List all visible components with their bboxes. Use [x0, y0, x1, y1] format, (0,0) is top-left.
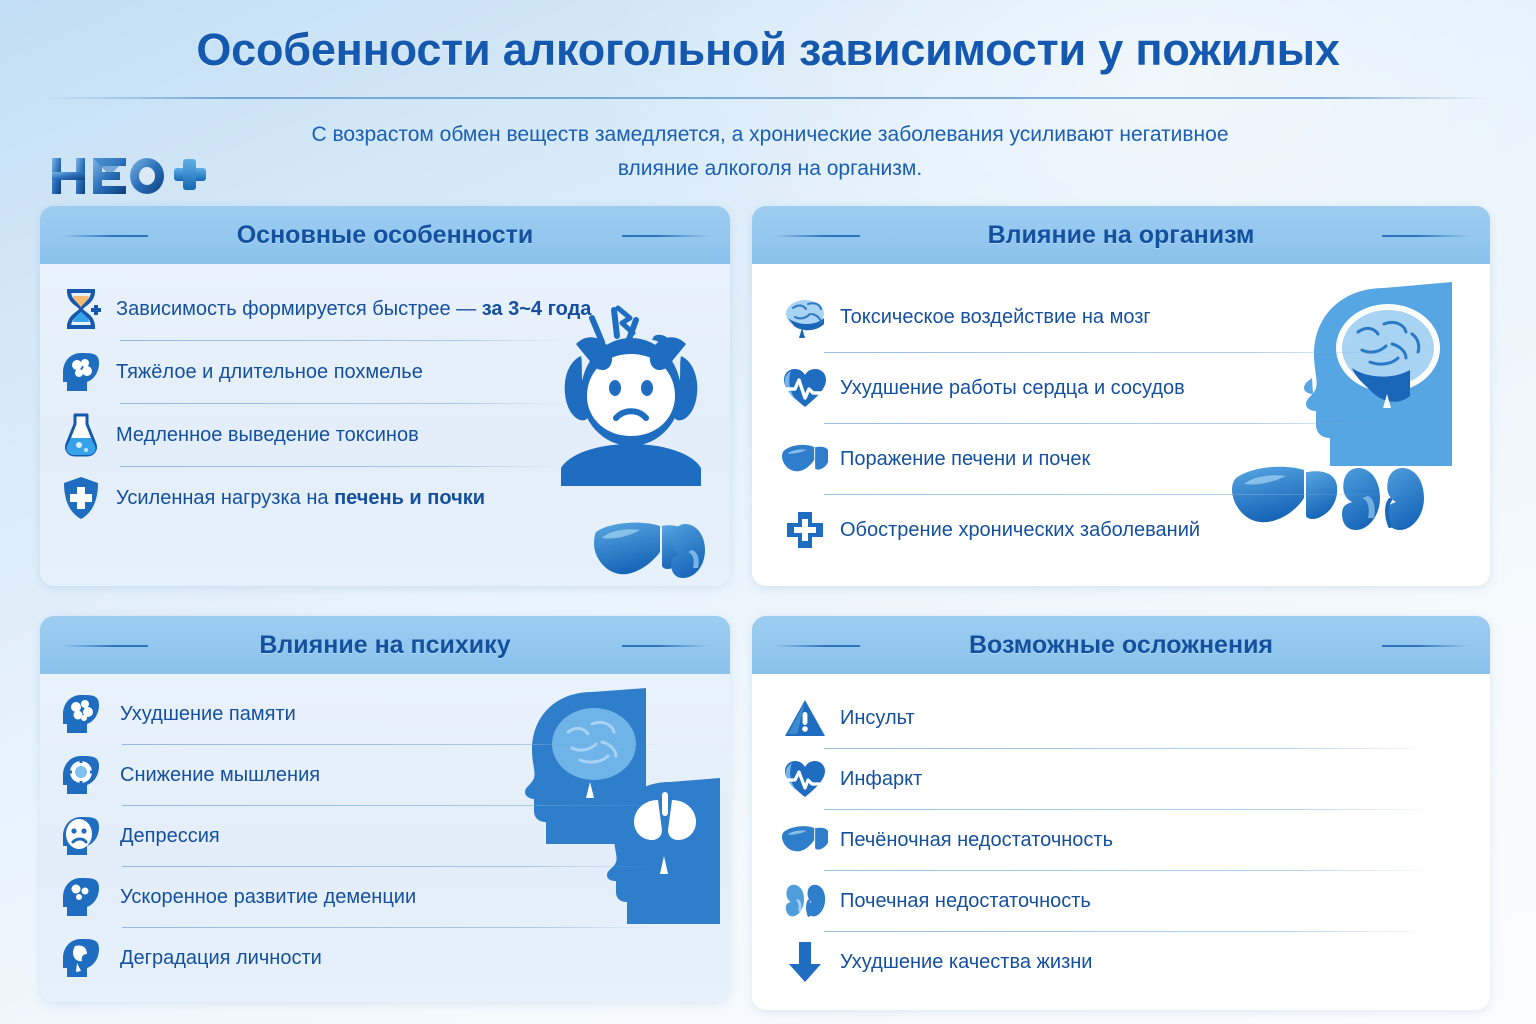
- header-rule-right: [622, 645, 708, 647]
- warning-triangle-icon: [782, 695, 828, 741]
- card-basics-header: Основные особенности: [40, 206, 730, 264]
- list-item-label: Снижение мышления: [120, 763, 320, 787]
- hourglass-icon: [58, 286, 104, 332]
- list-item-label: Инсульт: [840, 706, 915, 730]
- list-item[interactable]: Зависимость формируется быстрее — за 3~4…: [58, 278, 704, 340]
- list-item[interactable]: Деградация личности: [58, 928, 704, 988]
- list-item-label: Обострение хронических заболеваний: [840, 518, 1200, 542]
- head-sad-face-icon: [58, 813, 104, 859]
- list-item-label: Почечная недостаточность: [840, 889, 1091, 913]
- list-item-label: Депрессия: [120, 824, 220, 848]
- list-item[interactable]: Медленное выведение токсинов: [58, 404, 704, 466]
- liver-icon: [782, 817, 828, 863]
- cross-medical-icon: [782, 507, 828, 553]
- list-item-label: Деградация личности: [120, 946, 322, 970]
- list-item[interactable]: Почечная недостаточность: [782, 871, 1464, 931]
- list-item[interactable]: Снижение мышления: [58, 745, 704, 805]
- list-item-label: Ускоренное развитие деменции: [120, 885, 416, 909]
- header-rule-right: [1382, 235, 1468, 237]
- header-rule-left: [62, 645, 148, 647]
- list-item-label: Тяжёлое и длительное похмелье: [116, 360, 423, 384]
- list-item[interactable]: Депрессия: [58, 806, 704, 866]
- list-item[interactable]: Ухудшение памяти: [58, 684, 704, 744]
- card-complications-header: Возможные осложнения: [752, 616, 1490, 674]
- shield-cross-icon: [58, 475, 104, 521]
- list-item[interactable]: Инфаркт: [782, 749, 1464, 809]
- logo-letter-n: [52, 158, 85, 194]
- flask-icon: [58, 412, 104, 458]
- list-item[interactable]: Поражение печени и почек: [782, 424, 1464, 494]
- card-basics-rows: Зависимость формируется быстрее — за 3~4…: [40, 264, 730, 529]
- list-item[interactable]: Обострение хронических заболеваний: [782, 495, 1464, 565]
- list-item-label: Усиленная нагрузка на печень и почки: [116, 486, 485, 510]
- list-item[interactable]: Усиленная нагрузка на печень и почки: [58, 467, 704, 529]
- heart-pulse-icon: [782, 365, 828, 411]
- logo-letter-e: [93, 158, 126, 194]
- liver-icon: [782, 436, 828, 482]
- page-subtitle: С возрастом обмен веществ замедляется, а…: [300, 118, 1240, 186]
- header-rule-left: [774, 645, 860, 647]
- list-item-label: Поражение печени и почек: [840, 447, 1090, 471]
- header-rule-right: [622, 235, 708, 237]
- header-rule-right: [1382, 645, 1468, 647]
- list-item-label: Токсическое воздействие на мозг: [840, 305, 1151, 329]
- head-memory-icon: [58, 691, 104, 737]
- heart-pulse-icon: [782, 756, 828, 802]
- list-item[interactable]: Тяжёлое и длительное похмелье: [58, 341, 704, 403]
- list-item[interactable]: Ухудшение работы сердца и сосудов: [782, 353, 1464, 423]
- card-body-impact-header: Влияние на организм: [752, 206, 1490, 264]
- card-body-impact-title: Влияние на организм: [970, 221, 1273, 250]
- card-psyche-title: Влияние на психику: [241, 631, 528, 660]
- header-rule-left: [62, 235, 148, 237]
- card-complications: Возможные осложнения Инсульт: [752, 616, 1490, 1010]
- card-body-impact: Влияние на организм: [752, 206, 1490, 586]
- kidneys-icon: [782, 878, 828, 924]
- logo-letter-o: [130, 158, 164, 194]
- list-item-label: Печёночная недостаточность: [840, 828, 1113, 852]
- card-psyche-header: Влияние на психику: [40, 616, 730, 674]
- card-psyche: Влияние на психику: [40, 616, 730, 1002]
- head-gear-icon: [58, 752, 104, 798]
- page-title: Особенности алкогольной зависимости у по…: [0, 24, 1536, 76]
- list-item[interactable]: Токсическое воздействие на мозг: [782, 282, 1464, 352]
- card-basics: Основные особенности: [40, 206, 730, 586]
- head-dementia-icon: [58, 874, 104, 920]
- head-hangover-icon: [58, 349, 104, 395]
- head-degradation-icon: [58, 935, 104, 981]
- down-arrow-icon: [782, 939, 828, 985]
- list-item[interactable]: Ухудшение качества жизни: [782, 932, 1464, 992]
- brand-logo: [48, 150, 208, 202]
- list-item-label: Инфаркт: [840, 767, 922, 791]
- list-item-label: Ухудшение работы сердца и сосудов: [840, 376, 1185, 400]
- title-divider: [45, 97, 1491, 99]
- list-item-label: Ухудшение памяти: [120, 702, 296, 726]
- header-rule-left: [774, 235, 860, 237]
- logo-plus-icon: [174, 159, 206, 190]
- list-item[interactable]: Печёночная недостаточность: [782, 810, 1464, 870]
- card-complications-rows: Инсульт Инфаркт: [752, 674, 1490, 992]
- list-item-label: Медленное выведение токсинов: [116, 423, 419, 447]
- list-item[interactable]: Инсульт: [782, 688, 1464, 748]
- list-item-label: Зависимость формируется быстрее — за 3~4…: [116, 297, 591, 321]
- card-psyche-rows: Ухудшение памяти: [40, 674, 730, 988]
- card-complications-title: Возможные осложнения: [951, 631, 1291, 660]
- brain-icon: [782, 294, 828, 340]
- list-item[interactable]: Ускоренное развитие деменции: [58, 867, 704, 927]
- list-item-label: Ухудшение качества жизни: [840, 950, 1092, 974]
- card-basics-title: Основные особенности: [219, 221, 552, 250]
- card-body-impact-rows: Токсическое воздействие на мозг Ухудшени…: [752, 264, 1490, 565]
